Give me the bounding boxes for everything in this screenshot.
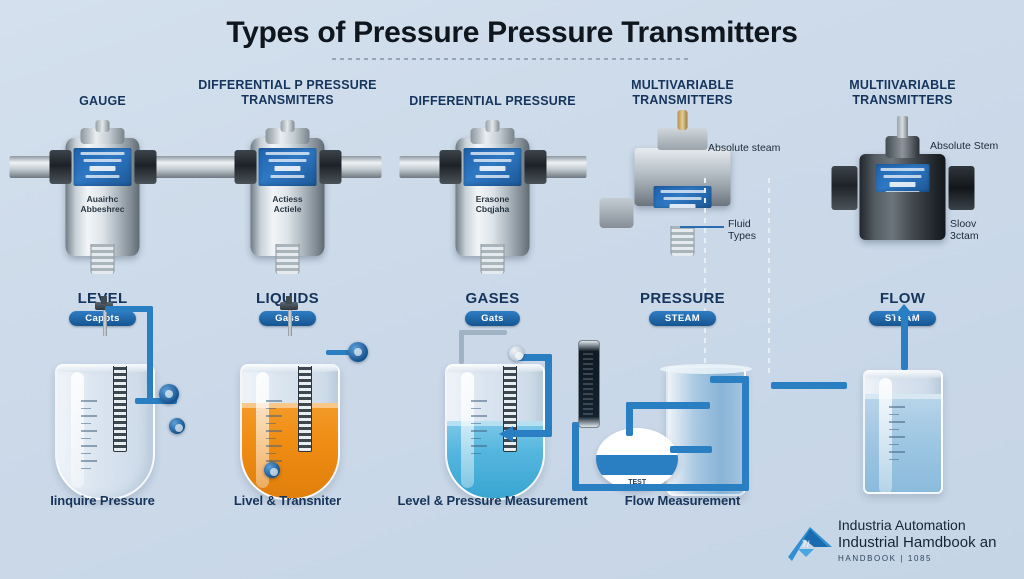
annotation-absolute-stem: Absolute Stem [930, 140, 998, 152]
pressure-gauge-icon [348, 342, 368, 362]
brand-mark-icon: 7/ [788, 527, 832, 561]
transmitter-gauge-icon: Auairhc Abbeshrec [15, 122, 190, 282]
pipe-right-top [710, 376, 749, 383]
pressure-gauge-icon-2 [169, 418, 185, 434]
nameplate-label [876, 164, 930, 192]
hex-fitting-right-icon [524, 150, 546, 184]
category-title: GASES [390, 290, 595, 307]
beaker-blue-illustration [433, 336, 553, 506]
column-header: DIFFERENTIAL PRESSURE [390, 78, 595, 109]
graduation-scale [81, 400, 107, 484]
beaker [55, 364, 155, 500]
hex-fitting-left-icon [831, 166, 857, 210]
pipe-right-vertical [545, 354, 552, 436]
brand-line-2: Industrial Hamdbook an [838, 534, 996, 552]
pipe-left-vertical [572, 422, 579, 490]
column-multiivariable-transmitters: MULTIIVARIABLE TRANSMITTERS Absolute Ste… [800, 78, 1005, 548]
brand-line-3: HANDBOOK | 1085 [838, 554, 996, 563]
column-header: DIFFERENTIAL P PRESSURE TRANSMITERS [185, 78, 390, 108]
transmitter-vent-icon [486, 120, 500, 132]
column-header: MULTIIVARIABLE TRANSMITTERS [800, 78, 1005, 108]
device-text: Auairhc Abbeshrec [15, 194, 190, 214]
transmitter-vent-icon [897, 116, 908, 138]
nameplate-label [74, 148, 132, 186]
hex-fitting-left-icon [599, 198, 633, 228]
beaker [240, 364, 340, 500]
annotation-absolute-steam: Absolute steam [708, 142, 780, 154]
column-caption: Level & Pressure Measurement [390, 493, 595, 508]
pipe-horizontal-top [105, 306, 153, 312]
flow-arrow-up-icon [894, 304, 914, 316]
category-block: GASES Gats [390, 290, 595, 326]
transmitter-black-icon [815, 110, 990, 270]
transmitter-vent-icon [678, 110, 688, 130]
flow-meter-tube-icon [578, 340, 600, 428]
threaded-stem-icon [91, 244, 115, 274]
hex-fitting-right-icon [319, 150, 341, 184]
footer-logo: 7/ Industria Automation Industrial Hamdb… [782, 505, 1012, 571]
category-block: PRESSURE STEAM [580, 290, 785, 326]
graduation-scale [471, 400, 497, 484]
column-header: GAUGE [0, 78, 205, 109]
column-caption: Livel & Transniter [185, 493, 390, 508]
graduation-scale [889, 406, 915, 490]
transmitter-vent-icon [96, 120, 110, 132]
pressure-gauge-icon [159, 384, 179, 404]
hex-fitting-right-icon [948, 166, 974, 210]
column-header: MULTIVARIABLE TRANSMITTERS [580, 78, 785, 108]
probe-icon [298, 364, 312, 452]
pipe-tank-top [626, 402, 710, 409]
sensor-tap-icon [509, 346, 524, 361]
beaker [863, 370, 943, 494]
hex-fitting-left-icon [439, 150, 461, 184]
pipe-feed-left [771, 382, 847, 389]
column-differential-pressure: DIFFERENTIAL PRESSURE Erasone Cbqjaha GA… [390, 78, 595, 548]
category-title: PRESSURE [580, 290, 785, 307]
column-differential-pressure-transmitters: DIFFERENTIAL P PRESSURE TRANSMITERS Acti… [185, 78, 390, 548]
transmitter-cap [658, 128, 708, 150]
column-caption: Iinquire Pressure [0, 493, 205, 508]
probe-stem [103, 310, 107, 336]
pipe-right-vertical [742, 376, 749, 491]
pipe-right-bottom [511, 430, 552, 437]
nameplate-label [259, 148, 317, 186]
category-badge: Gats [465, 311, 520, 326]
beaker-empty-illustration [43, 336, 163, 506]
transmitter-differential-icon: Actiess Actiele [200, 122, 375, 282]
probe-stem [288, 310, 292, 336]
annotation-slow-steam: Sloov 3ctam [950, 218, 994, 242]
pipe-up-vertical [901, 314, 908, 370]
device-text: Actiess Actiele [200, 194, 375, 214]
transmitter-vent-icon [281, 120, 295, 132]
transmitter-flanged-icon: Erasone Cbqjaha [405, 122, 580, 282]
probe-icon [113, 364, 127, 452]
infographic-canvas: Types of Pressure Pressure Transmitters … [0, 0, 1024, 579]
title-divider [332, 58, 692, 60]
pipe-loop-left [459, 330, 464, 364]
transmitter-multivariable-icon [595, 114, 770, 274]
pipe-tank-mid [670, 446, 712, 453]
nameplate-label [464, 148, 522, 186]
pressure-sphere-vessel: TEST [596, 428, 678, 490]
device-text: Erasone Cbqjaha [405, 194, 580, 214]
hex-fitting-right-icon [134, 150, 156, 184]
annotation-leader-line [680, 226, 724, 228]
column-gauge: GAUGE Auairhc Abbeshrec LEVEL Capots [0, 78, 205, 548]
nameplate-label [654, 186, 712, 208]
brand-line-1: Industria Automation [838, 517, 996, 534]
threaded-stem-icon [481, 244, 505, 274]
beaker-orange-illustration [228, 336, 348, 506]
hex-fitting-left-icon [234, 150, 256, 184]
pipe-loop-top [459, 330, 507, 335]
flow-arrow-icon [499, 426, 513, 442]
pipe-vertical [147, 306, 153, 402]
category-badge: STEAM [649, 311, 716, 326]
measuring-cylinder-illustration [843, 336, 963, 506]
page-title: Types of Pressure Pressure Transmitters [0, 16, 1024, 50]
threaded-stem-icon [671, 226, 695, 256]
transmitter-cap [886, 136, 920, 158]
column-multivariable-transmitters: MULTIVARIABLE TRANSMITTERS Absolute stea… [580, 78, 785, 548]
svg-text:7/: 7/ [802, 539, 810, 549]
pipe-bottom [572, 484, 748, 491]
storage-tank [666, 366, 746, 496]
hex-fitting-left-icon [49, 150, 71, 184]
threaded-stem-icon [276, 244, 300, 274]
column-caption: Flow Measurement [580, 493, 785, 508]
submersible-sensor-icon [264, 462, 280, 478]
tank-flow-illustration: TEST [570, 336, 770, 506]
sphere-level-band [596, 455, 678, 475]
brand-text: Industria Automation Industrial Hamdbook… [838, 517, 996, 563]
